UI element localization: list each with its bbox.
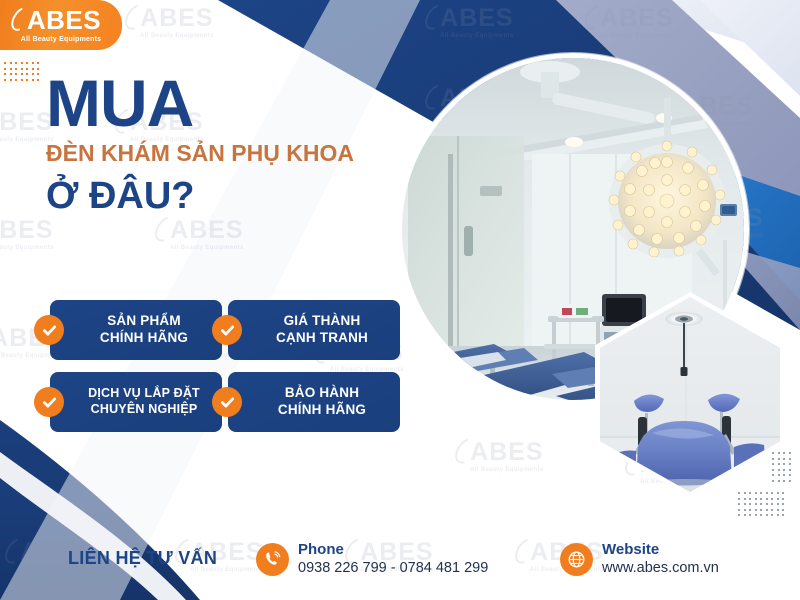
- feature-list: SẢN PHẨM CHÍNH HÃNG GIÁ THÀNH CẠNH TRANH…: [50, 300, 400, 432]
- phone-label: Phone: [298, 542, 488, 559]
- feature-item-dich-vu-lap-dat[interactable]: DỊCH VỤ LẮP ĐẶT CHUYÊN NGHIỆP: [50, 372, 222, 432]
- dot-grid-right-lower: [738, 492, 788, 522]
- dot-grid-top-left: [4, 62, 44, 84]
- feature-label: BẢO HÀNH CHÍNH HÃNG: [278, 385, 366, 419]
- check-icon: [212, 387, 242, 417]
- feature-label: SẢN PHẨM CHÍNH HÃNG: [100, 313, 188, 347]
- logo-tagline: All Beauty Equipments: [21, 36, 101, 43]
- contact-cta-label: LIÊN HỆ TƯ VẤN: [68, 548, 217, 569]
- website-url: www.abes.com.vn: [602, 560, 719, 576]
- headline-line-1: MUA: [46, 72, 354, 135]
- feature-label: DỊCH VỤ LẮP ĐẶT CHUYÊN NGHIỆP: [88, 386, 200, 417]
- website-label: Website: [602, 542, 719, 559]
- feature-item-san-pham-chinh-hang[interactable]: SẢN PHẨM CHÍNH HÃNG: [50, 300, 222, 360]
- headline-block: MUA ĐÈN KHÁM SẢN PHỤ KHOA Ở ĐÂU?: [46, 72, 354, 215]
- feature-item-gia-thanh-canh-tranh[interactable]: GIÁ THÀNH CẠNH TRANH: [228, 300, 400, 360]
- contact-footer: LIÊN HỆ TƯ VẤN Phone 0938 226 799 - 0784…: [0, 522, 800, 600]
- dot-grid-right-upper: [772, 452, 794, 486]
- feature-label: GIÁ THÀNH CẠNH TRANH: [276, 313, 368, 347]
- globe-icon: [560, 543, 593, 576]
- check-icon: [212, 315, 242, 345]
- promo-banner: ABESAll Beauty Equipments ABESAll Beauty…: [0, 0, 800, 600]
- feature-item-bao-hanh-chinh-hang[interactable]: BẢO HÀNH CHÍNH HÃNG: [228, 372, 400, 432]
- phone-icon: [256, 543, 289, 576]
- logo-wordmark: ABES: [27, 5, 101, 35]
- contact-website[interactable]: Website www.abes.com.vn: [560, 542, 719, 576]
- phone-number: 0938 226 799 - 0784 481 299: [298, 560, 488, 576]
- contact-phone[interactable]: Phone 0938 226 799 - 0784 481 299: [256, 542, 488, 576]
- check-icon: [34, 387, 64, 417]
- check-icon: [34, 315, 64, 345]
- abes-logo: ABES All Beauty Equipments: [0, 0, 122, 50]
- headline-line-3: Ở ĐÂU?: [46, 177, 354, 215]
- headline-line-2: ĐÈN KHÁM SẢN PHỤ KHOA: [46, 141, 354, 165]
